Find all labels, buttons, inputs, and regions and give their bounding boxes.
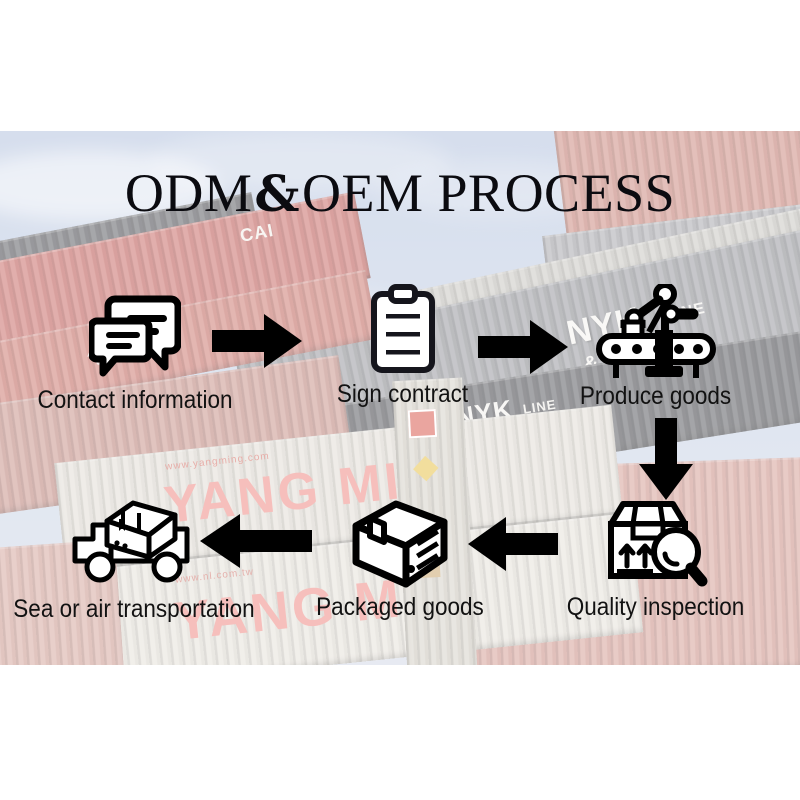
clipboard-icon xyxy=(300,282,505,378)
arrow-produce-to-quality xyxy=(637,418,695,507)
step-quality-inspection[interactable]: Quality inspection xyxy=(548,495,763,622)
box-magnifier-icon xyxy=(548,495,763,591)
container-placard xyxy=(408,409,437,438)
step-sign-contract[interactable]: Sign contract xyxy=(300,282,505,409)
step-label: Packaged goods xyxy=(310,593,490,622)
arrow-contact-to-contract xyxy=(212,312,304,375)
arrow-contract-to-produce xyxy=(478,318,570,381)
arrow-quality-to-packaged xyxy=(466,515,558,578)
title-ampersand: & xyxy=(252,164,302,223)
step-label: Sea or air transportation xyxy=(13,595,252,624)
step-label: Quality inspection xyxy=(559,593,753,622)
step-label: Contact information xyxy=(23,386,248,415)
page-title: ODM&OEM PROCESS xyxy=(0,166,800,220)
step-label: Produce goods xyxy=(559,382,753,411)
arrow-packaged-to-transport xyxy=(198,512,312,575)
title-right: OEM PROCESS xyxy=(302,163,675,223)
robot-conveyor-icon xyxy=(548,284,763,380)
poster-canvas: NYK LINE & M NYK LINE NIPPON YUSEN KAISH… xyxy=(0,0,800,800)
step-label: Sign contract xyxy=(310,380,495,409)
step-produce-goods[interactable]: Produce goods xyxy=(548,284,763,411)
title-left: ODM xyxy=(125,163,253,223)
